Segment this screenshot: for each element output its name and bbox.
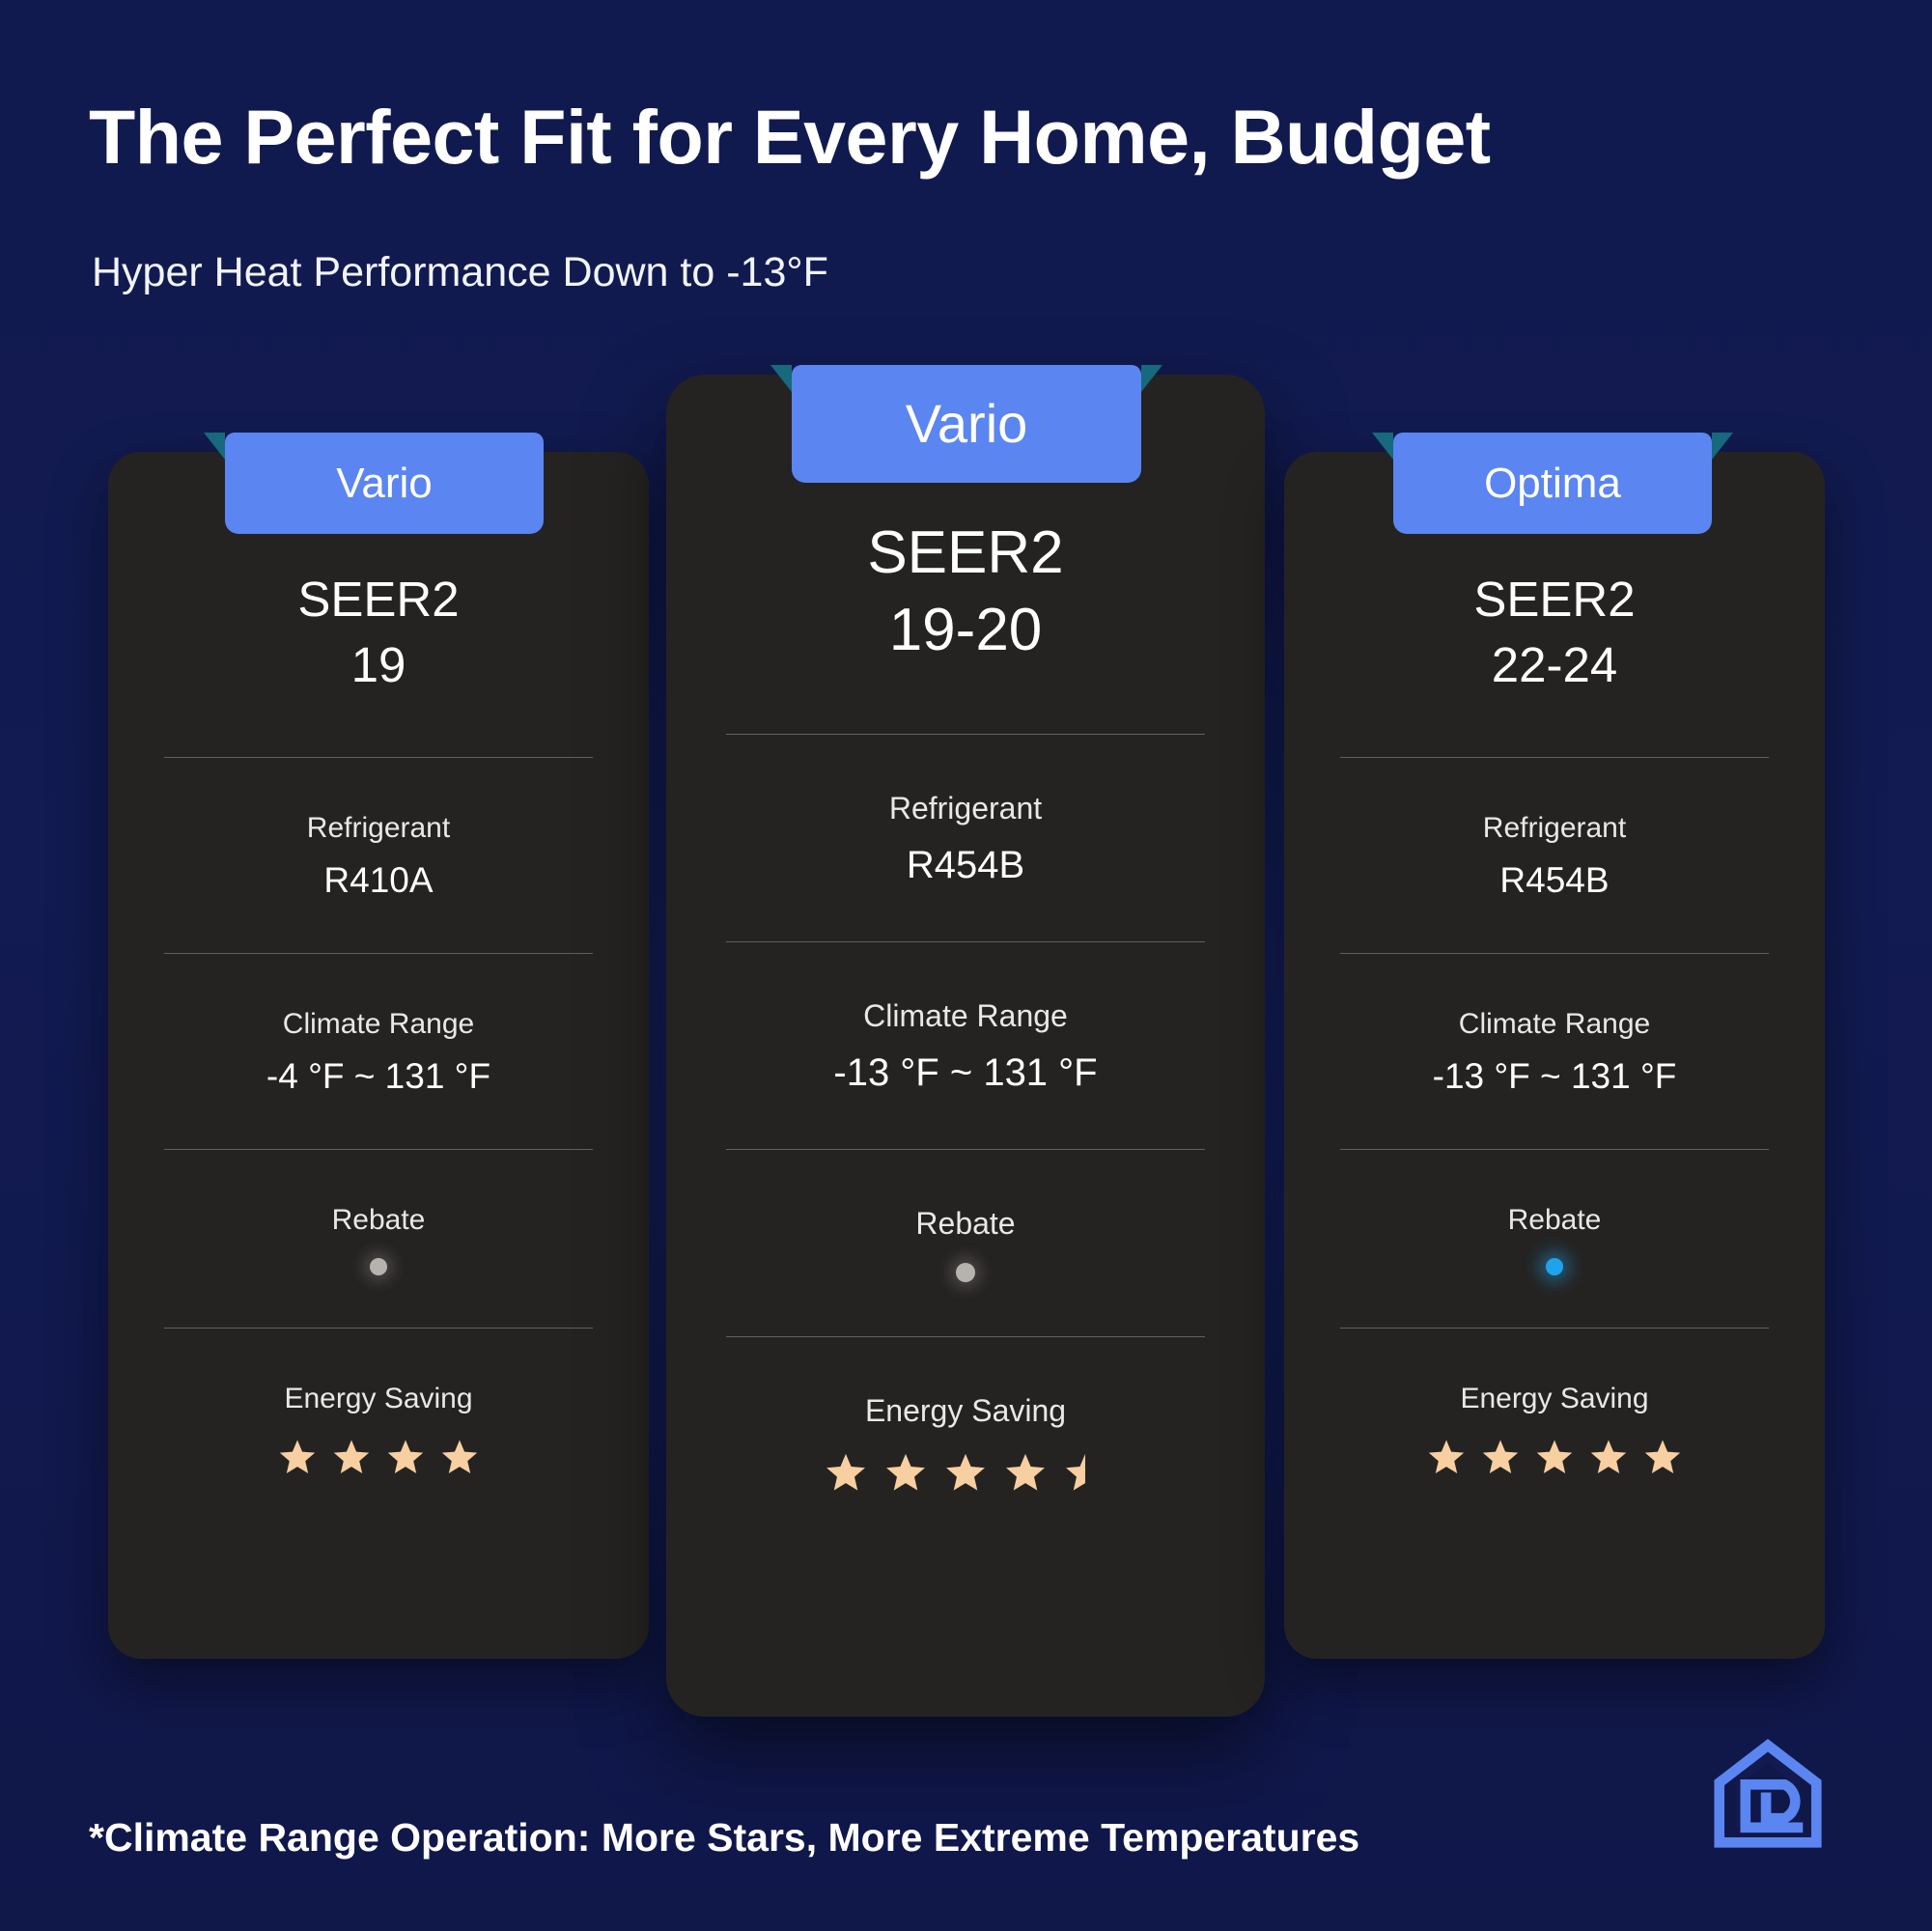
house-logo (1712, 1738, 1824, 1850)
ribbon-label: Optima (1484, 460, 1621, 507)
spec-row-refrigerant: Refrigerant R410A (164, 812, 593, 901)
seer-value: 22-24 (1492, 635, 1617, 695)
divider (726, 734, 1205, 735)
spec-row-energy-saving: Energy Saving (164, 1383, 593, 1477)
star-icon (1426, 1437, 1467, 1477)
star-icon (824, 1450, 868, 1495)
star-icon (1534, 1437, 1575, 1477)
spec-row-climate-range: Climate Range -13 °F ~ 131 °F (726, 998, 1205, 1095)
energy-saving-label: Energy Saving (1460, 1383, 1648, 1415)
refrigerant-label: Refrigerant (307, 812, 450, 845)
spec-row-rebate: Rebate (164, 1204, 593, 1275)
refrigerant-value: R454B (907, 844, 1024, 887)
divider (1340, 953, 1769, 954)
seer-label: SEER2 (1473, 570, 1635, 630)
rebate-indicator-dot (370, 1258, 387, 1275)
energy-saving-label: Energy Saving (865, 1393, 1066, 1429)
product-card-vario-19[interactable]: SEER2 19 Refrigerant R410A Climate Range… (108, 452, 649, 1659)
half-star-icon (1063, 1450, 1107, 1495)
spec-row-refrigerant: Refrigerant R454B (726, 791, 1205, 887)
star-icon (439, 1437, 480, 1477)
ribbon-fold-right-icon (1141, 365, 1162, 392)
refrigerant-label: Refrigerant (1483, 812, 1626, 845)
seer-value: 19 (351, 635, 406, 695)
energy-saving-stars (824, 1450, 1107, 1495)
ribbon-badge-vario-center[interactable]: Vario (792, 365, 1141, 483)
spec-row-climate-range: Climate Range -4 °F ~ 131 °F (164, 1008, 593, 1097)
rebate-label: Rebate (332, 1204, 426, 1237)
star-icon (1642, 1437, 1683, 1477)
divider (1340, 1328, 1769, 1329)
ribbon-badge-vario-left[interactable]: Vario (225, 433, 544, 534)
refrigerant-value: R454B (1499, 860, 1609, 901)
star-icon (331, 1437, 372, 1477)
climate-range-label: Climate Range (283, 1008, 474, 1041)
ribbon-fold-left-icon (1372, 433, 1393, 460)
spec-row-rebate: Rebate (726, 1206, 1205, 1282)
ribbon-badge-optima[interactable]: Optima (1393, 433, 1712, 534)
refrigerant-label: Refrigerant (889, 791, 1042, 826)
divider (164, 1149, 593, 1150)
ribbon-fold-right-icon (1712, 433, 1733, 460)
footnote-text: *Climate Range Operation: More Stars, Mo… (89, 1815, 1359, 1861)
energy-saving-stars (1426, 1437, 1683, 1477)
ribbon-fold-left-icon (204, 433, 225, 460)
divider (1340, 757, 1769, 758)
refrigerant-value: R410A (323, 860, 433, 901)
climate-range-value: -4 °F ~ 131 °F (266, 1056, 490, 1097)
divider (1340, 1149, 1769, 1150)
divider (164, 1328, 593, 1329)
star-icon (277, 1437, 318, 1477)
divider (726, 1149, 1205, 1150)
rebate-indicator-dot (956, 1263, 975, 1282)
product-comparison-cards: SEER2 19 Refrigerant R410A Climate Range… (0, 0, 1932, 1931)
seer-label: SEER2 (297, 570, 459, 630)
infographic-page: The Perfect Fit for Every Home, Budget H… (0, 0, 1932, 1931)
ribbon-fold-left-icon (770, 365, 792, 392)
climate-range-value: -13 °F ~ 131 °F (1433, 1056, 1677, 1097)
rebate-label: Rebate (915, 1206, 1015, 1242)
star-icon (1003, 1450, 1048, 1495)
seer-value: 19-20 (889, 595, 1043, 666)
spec-row-rebate: Rebate (1340, 1204, 1769, 1275)
star-icon (883, 1450, 928, 1495)
energy-saving-stars (277, 1437, 480, 1477)
rebate-indicator-dot (1546, 1258, 1563, 1275)
energy-saving-label: Energy Saving (284, 1383, 472, 1415)
climate-range-label: Climate Range (863, 998, 1068, 1034)
spec-row-energy-saving: Energy Saving (1340, 1383, 1769, 1477)
divider (164, 757, 593, 758)
star-icon (1588, 1437, 1629, 1477)
divider (164, 953, 593, 954)
ribbon-label: Vario (906, 393, 1028, 454)
rebate-label: Rebate (1508, 1204, 1602, 1237)
spec-row-climate-range: Climate Range -13 °F ~ 131 °F (1340, 1008, 1769, 1097)
star-icon (1480, 1437, 1521, 1477)
product-card-vario-19-20[interactable]: SEER2 19-20 Refrigerant R454B Climate Ra… (666, 375, 1265, 1717)
star-icon (385, 1437, 426, 1477)
climate-range-label: Climate Range (1459, 1008, 1650, 1041)
product-card-optima-22-24[interactable]: SEER2 22-24 Refrigerant R454B Climate Ra… (1284, 452, 1825, 1659)
divider (726, 941, 1205, 942)
climate-range-value: -13 °F ~ 131 °F (833, 1051, 1097, 1095)
seer-label: SEER2 (867, 518, 1063, 589)
ribbon-label: Vario (336, 460, 432, 507)
spec-row-refrigerant: Refrigerant R454B (1340, 812, 1769, 901)
spec-row-energy-saving: Energy Saving (726, 1393, 1205, 1495)
divider (726, 1336, 1205, 1337)
star-icon (943, 1450, 988, 1495)
